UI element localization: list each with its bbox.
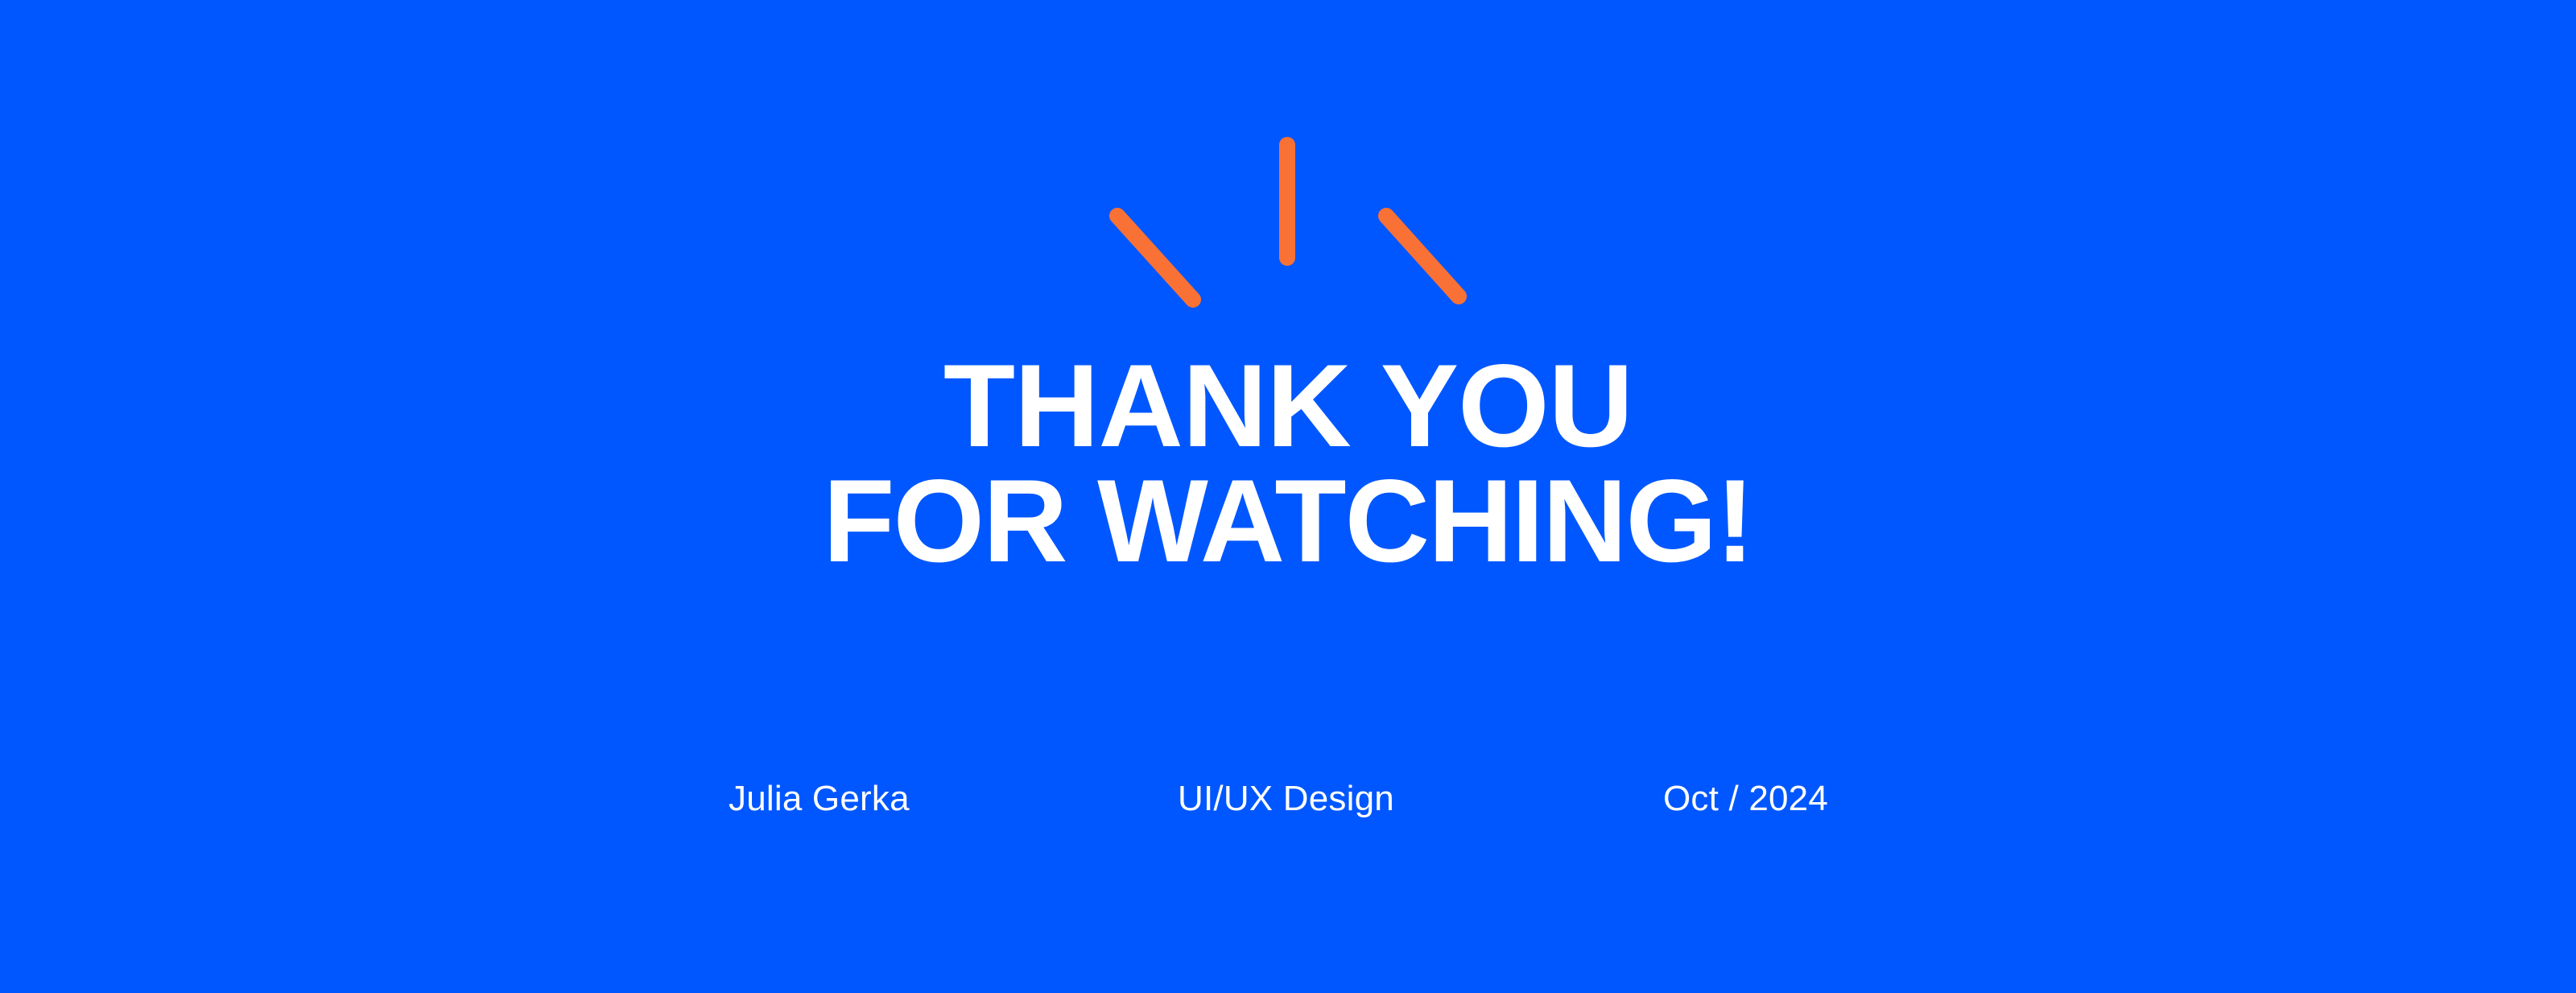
burst-rays-icon — [1095, 129, 1481, 322]
meta-date: Oct / 2024 — [1663, 775, 1828, 823]
meta-role: UI/UX Design — [1178, 775, 1394, 823]
burst-left-ray-icon — [1117, 216, 1193, 300]
burst-right-ray-icon — [1386, 216, 1459, 296]
headline-line-1: THANK YOU — [0, 348, 2576, 463]
thank-you-slide: THANK YOU FOR WATCHING! Julia Gerka UI/U… — [0, 0, 2576, 993]
meta-row: Julia Gerka UI/UX Design Oct / 2024 — [729, 775, 1856, 823]
meta-author: Julia Gerka — [729, 775, 910, 823]
headline-line-2: FOR WATCHING! — [0, 463, 2576, 578]
headline: THANK YOU FOR WATCHING! — [0, 348, 2576, 578]
